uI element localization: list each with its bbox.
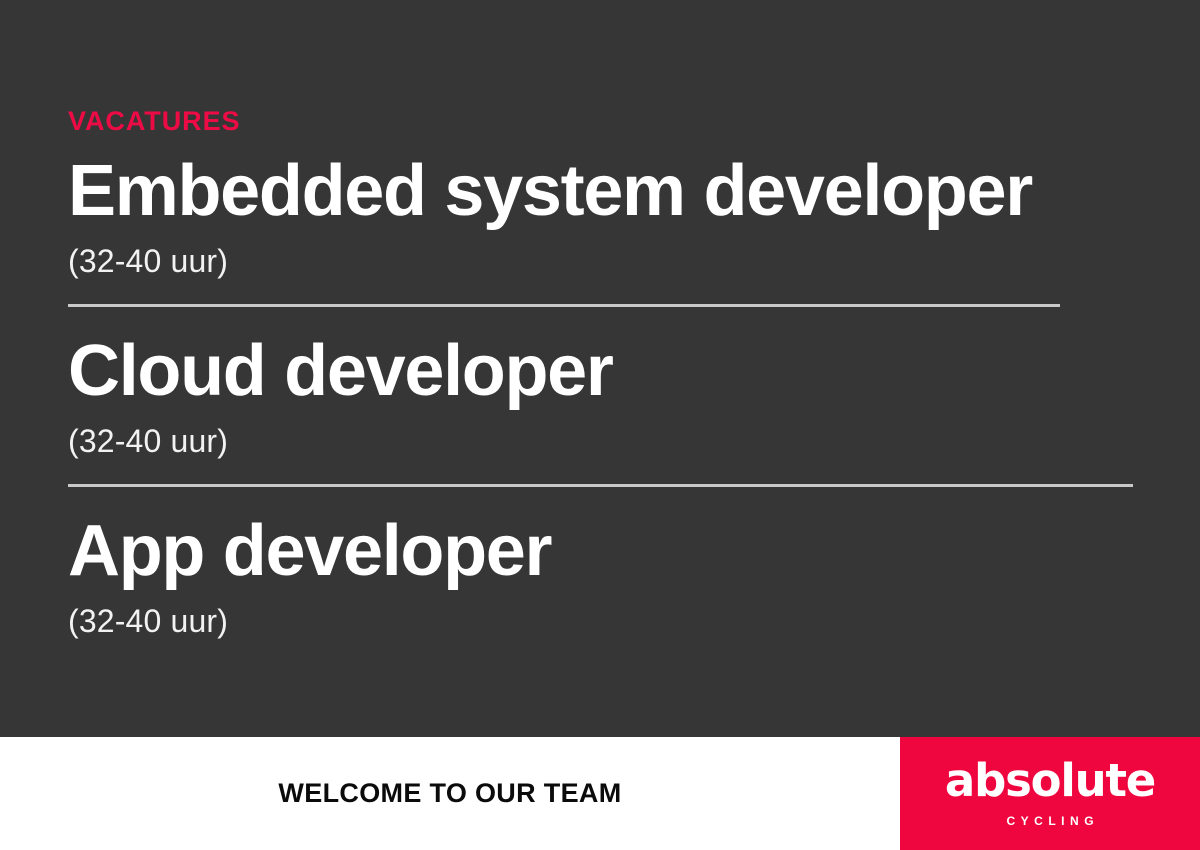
dark-panel: VACATURES Embedded system developer (32-… bbox=[0, 0, 1200, 737]
vacancy-title: App developer bbox=[68, 515, 1148, 587]
footer-tagline: WELCOME TO OUR TEAM bbox=[278, 780, 621, 807]
footer-tagline-area: WELCOME TO OUR TEAM bbox=[0, 737, 900, 850]
absolute-wordmark-text: absolute bbox=[945, 760, 1155, 806]
vacancy-item[interactable]: App developer (32-40 uur) bbox=[68, 515, 1148, 637]
vacancy-title: Cloud developer bbox=[68, 335, 1148, 407]
vacancy-hours: (32-40 uur) bbox=[68, 605, 1148, 637]
footer-bar: WELCOME TO OUR TEAM absolute CYCLING bbox=[0, 737, 1200, 850]
vacancy-divider bbox=[68, 484, 1133, 487]
vacancy-divider bbox=[68, 304, 1060, 307]
vacancy-item[interactable]: Embedded system developer (32-40 uur) bbox=[68, 155, 1148, 277]
section-eyebrow-vacatures: VACATURES bbox=[68, 108, 1148, 135]
absolute-wordmark-logo: absolute bbox=[944, 760, 1156, 806]
brand-logo-block[interactable]: absolute CYCLING bbox=[900, 737, 1200, 850]
vacancy-hours: (32-40 uur) bbox=[68, 425, 1148, 457]
vacancy-item[interactable]: Cloud developer (32-40 uur) bbox=[68, 335, 1148, 457]
vacancy-title: Embedded system developer bbox=[68, 155, 1148, 227]
vacancy-poster: VACATURES Embedded system developer (32-… bbox=[0, 0, 1200, 850]
vacancy-hours: (32-40 uur) bbox=[68, 245, 1148, 277]
logo-subtitle-cycling: CYCLING bbox=[1006, 815, 1099, 827]
vacancy-list: VACATURES Embedded system developer (32-… bbox=[68, 108, 1148, 637]
